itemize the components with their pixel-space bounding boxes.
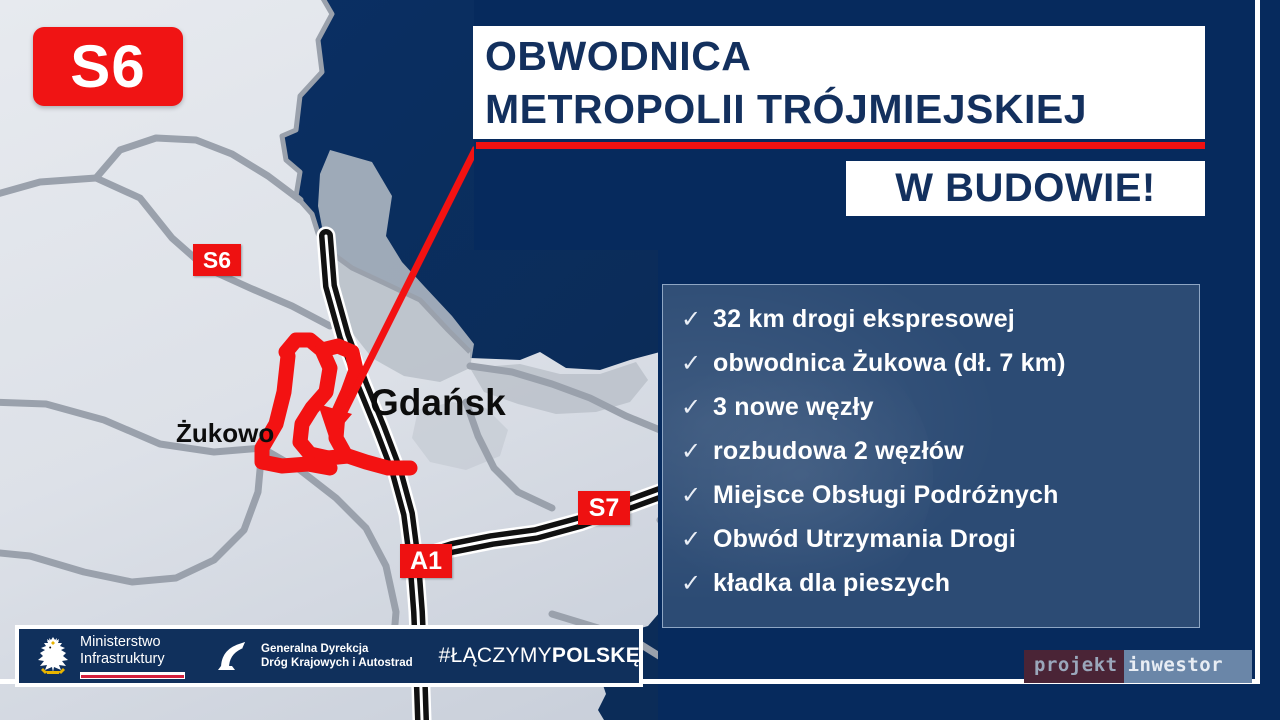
campaign-hashtag: #ŁĄCZYMYPOLSKĘ xyxy=(439,644,640,668)
s6-badge-label: S6 xyxy=(70,37,145,97)
check-icon: ✓ xyxy=(681,562,713,606)
list-item-label: 32 km drogi ekspresowej xyxy=(713,297,1015,341)
ministry-line-1: Ministerstwo xyxy=(80,634,185,651)
title-line-2: METROPOLII TRÓJMIEJSKIEJ xyxy=(485,83,1205,136)
gddkia-line-1: Generalna Dyrekcja xyxy=(261,642,413,656)
title-line-1: OBWODNICA xyxy=(485,30,1205,83)
watermark-part-1: projekt xyxy=(1024,650,1124,683)
s6-road-badge: S6 xyxy=(33,27,183,106)
subtitle-label: W BUDOWIE! xyxy=(895,166,1156,211)
gddkia-logo-icon xyxy=(215,640,253,672)
check-icon: ✓ xyxy=(681,474,713,518)
gddkia-line-2: Dróg Krajowych i Autostrad xyxy=(261,656,413,670)
list-item-label: kładka dla pieszych xyxy=(713,561,950,605)
gddkia-wordmark: Generalna Dyrekcja Dróg Krajowych i Auto… xyxy=(261,642,413,670)
list-item-label: rozbudowa 2 węzłów xyxy=(713,429,964,473)
ministry-wordmark: Ministerstwo Infrastruktury xyxy=(80,634,185,679)
check-icon: ✓ xyxy=(681,298,713,342)
list-item: ✓ 3 nowe węzły xyxy=(681,385,1199,429)
polish-eagle-icon xyxy=(33,635,73,677)
features-panel: ✓ 32 km drogi ekspresowej ✓ obwodnica Żu… xyxy=(662,284,1200,628)
list-item-label: Miejsce Obsługi Podróżnych xyxy=(713,473,1059,517)
subtitle-banner: W BUDOWIE! xyxy=(846,161,1205,216)
ministry-line-2: Infrastruktury xyxy=(80,651,185,668)
check-icon: ✓ xyxy=(681,430,713,474)
check-icon: ✓ xyxy=(681,342,713,386)
check-icon: ✓ xyxy=(681,518,713,562)
list-item-label: obwodnica Żukowa (dł. 7 km) xyxy=(713,341,1066,385)
list-item: ✓ Miejsce Obsługi Podróżnych xyxy=(681,473,1199,517)
map-label-gdansk: Gdańsk xyxy=(370,382,506,424)
map-label-zukowo: Żukowo xyxy=(176,418,274,449)
hashtag-bold: POLSKĘ xyxy=(552,644,640,667)
list-item: ✓ kładka dla pieszych xyxy=(681,561,1199,605)
road-shield-s6: S6 xyxy=(193,244,241,276)
check-icon: ✓ xyxy=(681,386,713,430)
list-item-label: Obwód Utrzymania Drogi xyxy=(713,517,1016,561)
footer-inner: Ministerstwo Infrastruktury Generalna Dy… xyxy=(19,629,639,683)
page-title: OBWODNICA METROPOLII TRÓJMIEJSKIEJ xyxy=(473,26,1205,139)
list-item-label: 3 nowe węzły xyxy=(713,385,874,429)
road-shield-a1: A1 xyxy=(400,544,452,578)
watermark-part-2: inwestor xyxy=(1124,650,1252,683)
footer-logo-bar: Ministerstwo Infrastruktury Generalna Dy… xyxy=(15,625,643,687)
list-item: ✓ obwodnica Żukowa (dł. 7 km) xyxy=(681,341,1199,385)
projektinwestor-watermark: projekt inwestor xyxy=(1024,650,1252,683)
list-item: ✓ rozbudowa 2 węzłów xyxy=(681,429,1199,473)
infographic-root: Gdańsk Żukowo S6 A1 S7 S6 OBWODNICA METR… xyxy=(0,0,1280,720)
polish-flag-icon xyxy=(80,672,185,679)
road-shield-s7: S7 xyxy=(578,491,630,525)
hashtag-prefix: #ŁĄCZYMY xyxy=(439,644,552,667)
list-item: ✓ Obwód Utrzymania Drogi xyxy=(681,517,1199,561)
title-red-rule xyxy=(476,142,1205,149)
list-item: ✓ 32 km drogi ekspresowej xyxy=(681,297,1199,341)
